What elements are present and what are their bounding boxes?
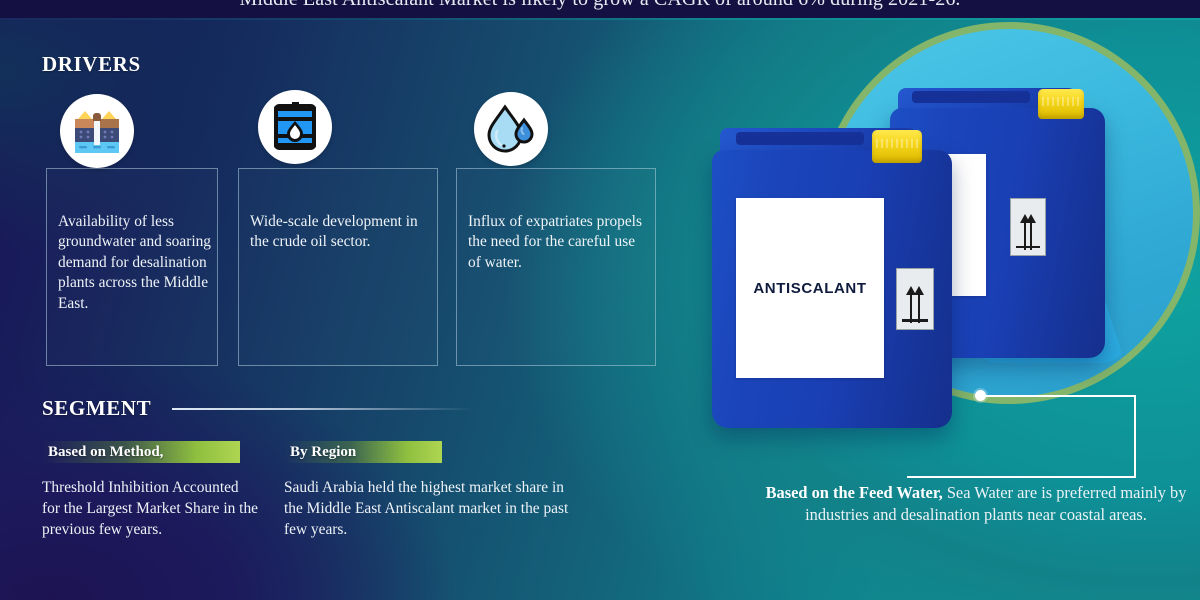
feed-water-lead: Based on the Feed Water, (766, 483, 943, 502)
water-drop-glyph (484, 103, 538, 155)
header-bar: Middle East Antiscalant Market is likely… (0, 0, 1200, 18)
segment-text-method: Threshold Inhibition Accounted for the L… (42, 478, 260, 541)
callout-line-horizontal (986, 395, 1136, 397)
segment-badge-region: By Region (284, 441, 442, 463)
infographic-canvas: 40 30 20 CALANT ANTISCALANT (0, 0, 1200, 600)
segment-text-region: Saudi Arabia held the highest market sha… (284, 478, 574, 541)
driver-text-3: Influx of expatriates propels the need f… (468, 212, 644, 273)
callout-line-vertical (1134, 395, 1136, 477)
jerrycan-front-label-text: ANTISCALANT (753, 280, 866, 297)
segment-badge-method: Based on Method, (42, 441, 240, 463)
this-way-up-icon-back (1010, 198, 1046, 256)
desalination-plant-glyph (71, 105, 123, 157)
cap-back (1038, 89, 1084, 119)
jerrycan-front: ANTISCALANT (712, 128, 952, 428)
jerrycan-front-label: ANTISCALANT (736, 198, 884, 378)
segment-heading-rule (172, 408, 472, 410)
cap-front (872, 130, 922, 163)
segment-heading: SEGMENT (42, 396, 151, 421)
water-drop-icon (474, 92, 548, 166)
desalination-plant-icon (60, 94, 134, 168)
driver-text-2: Wide-scale development in the crude oil … (250, 212, 422, 253)
oil-barrel-icon (258, 90, 332, 164)
driver-text-1: Availability of less groundwater and soa… (58, 212, 212, 314)
header-title: Middle East Antiscalant Market is likely… (0, 0, 1200, 11)
drivers-heading: DRIVERS (42, 52, 141, 77)
feed-water-caption: Based on the Feed Water, Sea Water are i… (752, 482, 1200, 527)
header-underline (0, 18, 1200, 20)
oil-barrel-glyph (270, 101, 320, 153)
callout-dot (975, 390, 986, 401)
callout-line-bottom (907, 476, 1136, 478)
this-way-up-icon-front (896, 268, 934, 330)
